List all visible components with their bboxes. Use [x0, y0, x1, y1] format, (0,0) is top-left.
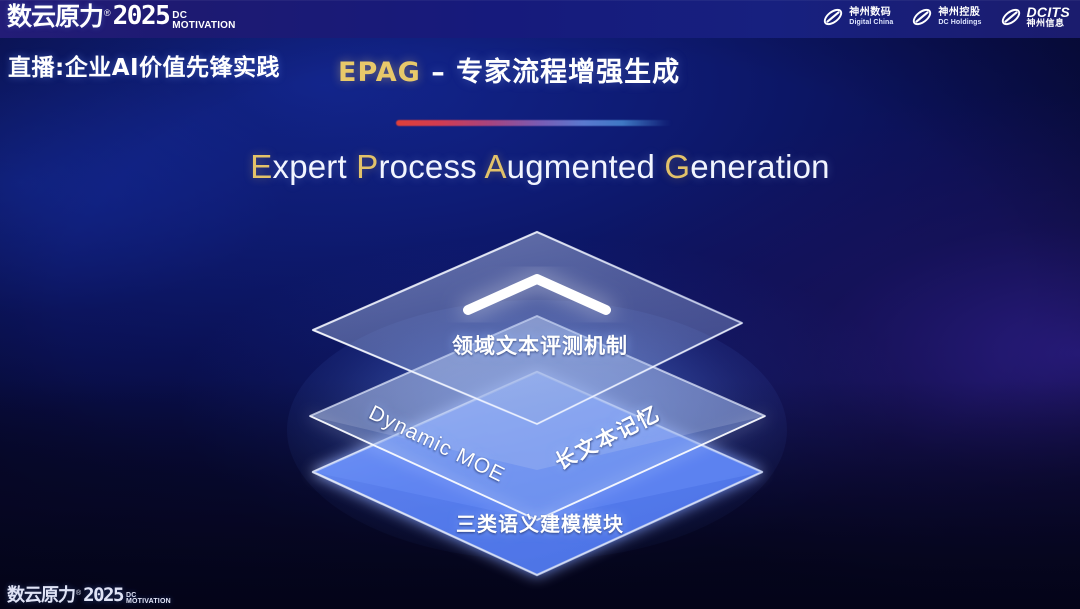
watermark-dc-line2: MOTIVATION: [126, 599, 171, 606]
watermark-brand-lockup: 数云原力 ® 2025 DC MOTIVATION: [7, 3, 1072, 605]
watermark-year: 2025: [83, 586, 123, 605]
watermark-registered-mark: ®: [76, 590, 81, 597]
watermark-dc-motivation: DC MOTIVATION: [126, 593, 171, 606]
slide-root: 数云原力 ® 2025 DC MOTIVATION 神州数码 Digital C…: [0, 0, 1080, 609]
watermark-name-cn: 数云原力: [7, 587, 75, 605]
